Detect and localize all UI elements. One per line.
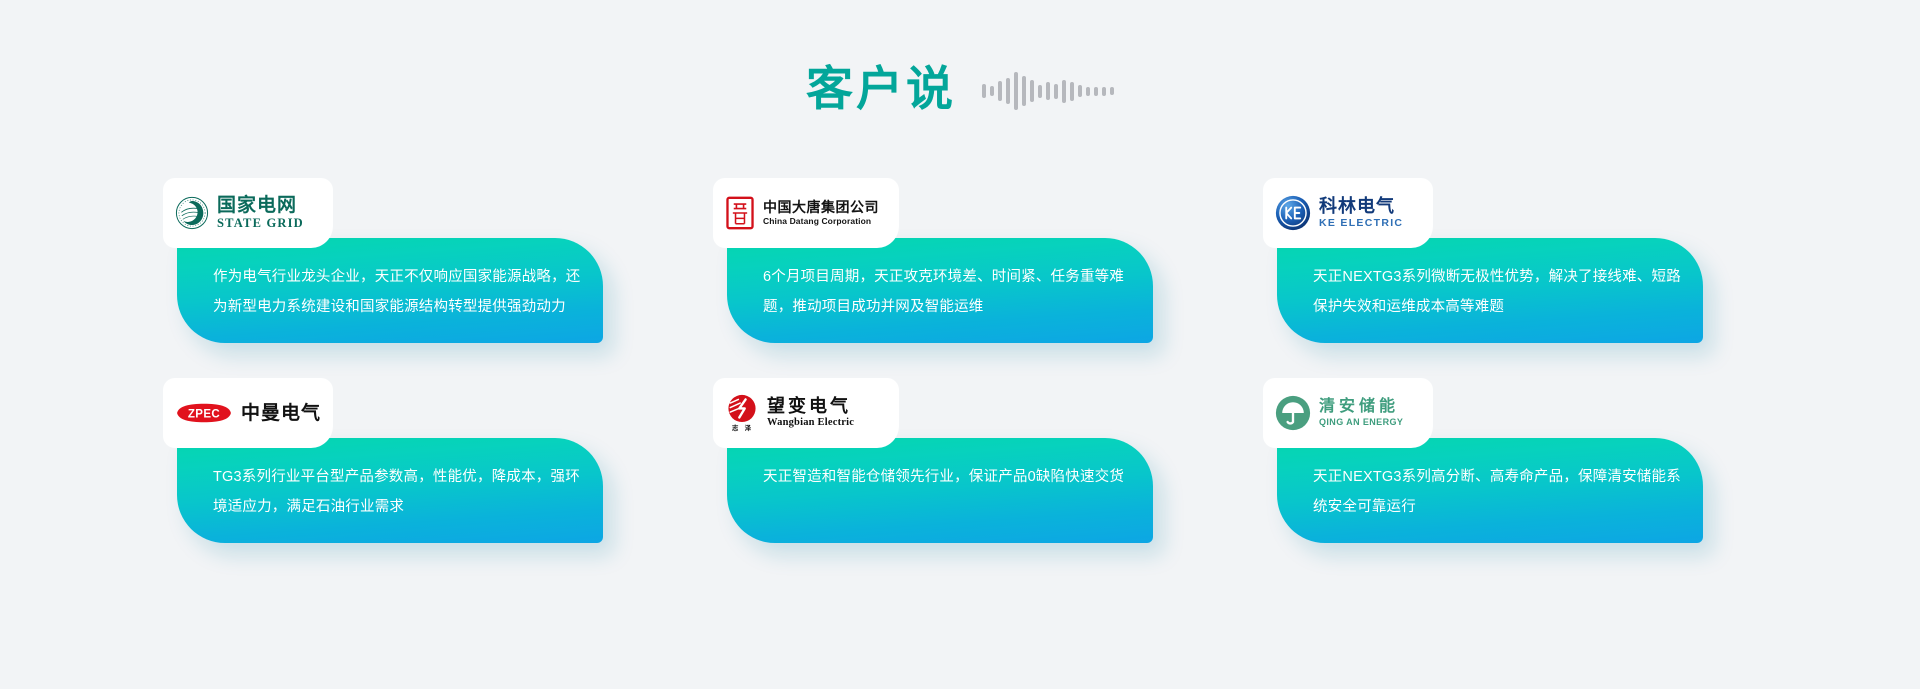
testimonial-card-body: 天正智造和智能仓储领先行业，保证产品0缺陷快速交货 — [727, 438, 1153, 543]
customer-logo-box: ZPEC 中曼电气 — [163, 378, 333, 448]
customer-logo-name-cn: 中曼电气 — [241, 404, 321, 423]
waveform-bar — [1054, 84, 1058, 99]
customer-logo-box: 国家电网 STATE GRID — [163, 178, 333, 248]
waveform-bar — [998, 81, 1002, 101]
customer-logo-name-cn: 清安储能 — [1319, 399, 1403, 415]
testimonial-card-body: 天正NEXTG3系列高分断、高寿命产品，保障清安储能系统安全可靠运行 — [1277, 438, 1703, 543]
customer-logo-name-cn: 国家电网 — [217, 196, 304, 215]
waveform-bar — [1102, 87, 1106, 96]
testimonial-card-body: 天正NEXTG3系列微断无极性优势，解决了接线难、短路保护失效和运维成本高等难题 — [1277, 238, 1703, 343]
svg-text:志: 志 — [732, 423, 739, 432]
customer-logo-name-cn: 望变电气 — [767, 397, 854, 415]
testimonial-quote: 天正NEXTG3系列高分断、高寿命产品，保障清安储能系统安全可靠运行 — [1313, 462, 1681, 522]
testimonial-quote: 作为电气行业龙头企业，天正不仅响应国家能源战略，还为新型电力系统建设和国家能源结… — [213, 262, 581, 322]
customer-logo-name-en: Wangbian Electric — [767, 418, 854, 429]
waveform-bar — [1110, 87, 1114, 95]
testimonial-card-body: 6个月项目周期，天正攻克环境差、时间紧、任务重等难题，推动项目成功并网及智能运维 — [727, 238, 1153, 343]
waveform-bar — [1030, 80, 1034, 102]
waveform-bar — [1006, 78, 1010, 104]
customer-logo-box: 中国大唐集团公司 China Datang Corporation — [713, 178, 899, 248]
waveform-bar — [1038, 85, 1042, 98]
waveform-bar — [982, 84, 986, 98]
customer-logo-name-en: STATE GRID — [217, 217, 304, 230]
testimonial-card-grid: 作为电气行业龙头企业，天正不仅响应国家能源战略，还为新型电力系统建设和国家能源结… — [163, 178, 1763, 543]
qing-an-energy-logo-icon — [1275, 395, 1311, 431]
customer-logo-name-en: KE ELECTRIC — [1319, 218, 1403, 229]
wangbian-electric-logo-icon: 志 泽 — [725, 394, 759, 432]
testimonial-card-body: 作为电气行业龙头企业，天正不仅响应国家能源战略，还为新型电力系统建设和国家能源结… — [177, 238, 603, 343]
waveform-bar — [1022, 76, 1026, 106]
testimonial-card[interactable]: 天正NEXTG3系列高分断、高寿命产品，保障清安储能系统安全可靠运行 清安储能 … — [1263, 378, 1703, 543]
customer-logo-name-cn: 科林电气 — [1319, 197, 1403, 215]
waveform-bar — [1070, 82, 1074, 101]
testimonial-card[interactable]: 作为电气行业龙头企业，天正不仅响应国家能源战略，还为新型电力系统建设和国家能源结… — [163, 178, 603, 343]
customer-logo-name-cn: 中国大唐集团公司 — [763, 200, 879, 214]
testimonial-card[interactable]: TG3系列行业平台型产品参数高，性能优，降成本，强环境适应力，满足石油行业需求 … — [163, 378, 603, 543]
ke-electric-logo-icon — [1275, 195, 1311, 231]
zpec-logo-icon: ZPEC — [175, 403, 233, 423]
china-datang-logo-icon — [725, 196, 755, 230]
svg-text:泽: 泽 — [745, 424, 752, 432]
testimonial-card-body: TG3系列行业平台型产品参数高，性能优，降成本，强环境适应力，满足石油行业需求 — [177, 438, 603, 543]
customer-logo-box: 清安储能 QING AN ENERGY — [1263, 378, 1433, 448]
svg-text:ZPEC: ZPEC — [188, 409, 220, 421]
waveform-bar — [1086, 87, 1090, 96]
section-header: 客户说 — [0, 62, 1920, 114]
customer-logo-box: 科林电气 KE ELECTRIC — [1263, 178, 1433, 248]
waveform-bar — [1094, 87, 1098, 96]
customer-logo-name-en: QING AN ENERGY — [1319, 418, 1403, 427]
waveform-bar — [990, 86, 994, 96]
testimonial-card[interactable]: 天正智造和智能仓储领先行业，保证产品0缺陷快速交货 志 泽 望变电气 Wangb… — [713, 378, 1153, 543]
testimonial-card[interactable]: 天正NEXTG3系列微断无极性优势，解决了接线难、短路保护失效和运维成本高等难题 — [1263, 178, 1703, 343]
testimonial-quote: TG3系列行业平台型产品参数高，性能优，降成本，强环境适应力，满足石油行业需求 — [213, 462, 581, 522]
state-grid-logo-icon — [175, 196, 209, 230]
customer-logo-box: 志 泽 望变电气 Wangbian Electric — [713, 378, 899, 448]
waveform-bar — [1062, 80, 1066, 103]
audio-waveform-icon — [982, 68, 1114, 114]
testimonial-quote: 天正NEXTG3系列微断无极性优势，解决了接线难、短路保护失效和运维成本高等难题 — [1313, 262, 1681, 322]
customer-logo-name-en: China Datang Corporation — [763, 217, 879, 226]
testimonial-quote: 天正智造和智能仓储领先行业，保证产品0缺陷快速交货 — [763, 462, 1131, 492]
waveform-bar — [1046, 82, 1050, 100]
customer-testimonials-section: 客户说 作为电气行业龙头企业，天正不仅响应国家能源战略，还为新型电力系统建设和国… — [0, 0, 1920, 689]
page-title: 客户说 — [806, 65, 956, 112]
waveform-bar — [1014, 72, 1018, 110]
testimonial-card[interactable]: 6个月项目周期，天正攻克环境差、时间紧、任务重等难题，推动项目成功并网及智能运维… — [713, 178, 1153, 343]
testimonial-quote: 6个月项目周期，天正攻克环境差、时间紧、任务重等难题，推动项目成功并网及智能运维 — [763, 262, 1131, 322]
waveform-bar — [1078, 85, 1082, 97]
